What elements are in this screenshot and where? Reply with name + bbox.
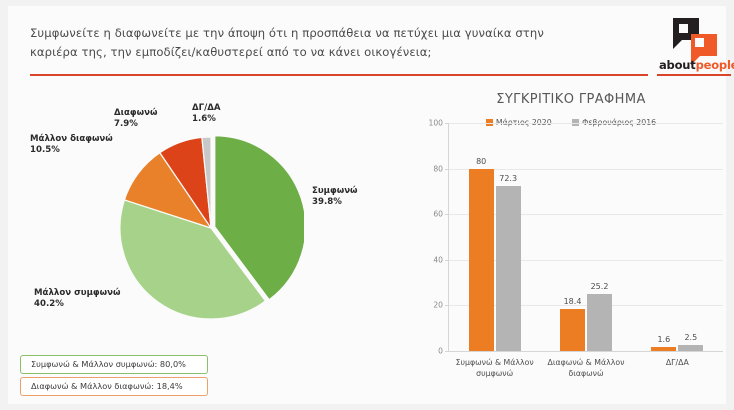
speech-bubble-orange-hole (695, 38, 704, 47)
pie-chart: Συμφωνώ 39.8% Μάλλον συμφωνώ 40.2% Μάλλο… (22, 92, 412, 347)
pie-label-diafono-value: 7.9% (114, 119, 138, 129)
bar-value-label: 18.4 (564, 297, 582, 306)
bar: 2.5 (678, 345, 703, 351)
bar: 18.4 (560, 309, 585, 351)
pie-circle (118, 135, 304, 321)
bar: 72.3 (496, 186, 521, 351)
y-tick-mark (445, 123, 449, 124)
bar-group: 18.425.2 (560, 123, 612, 351)
x-axis-label-line: Συμφωνώ & Μάλλον (456, 358, 534, 367)
pie-label-mallon-symfono: Μάλλον συμφωνώ 40.2% (34, 288, 130, 310)
bar-value-label: 1.6 (657, 335, 670, 344)
bar: 80 (469, 169, 494, 351)
y-tick-label: 80 (433, 164, 443, 173)
y-gridline (449, 351, 723, 352)
bar-group: 1.62.5 (651, 123, 703, 351)
pie-label-symfono-name: Συμφωνώ (312, 186, 358, 196)
page-title: Συμφωνείτε η διαφωνείτε με την άποψη ότι… (30, 24, 620, 62)
summary-disagree-box: Διαφωνώ & Μάλλον διαφωνώ: 18,4% (20, 377, 208, 396)
bar: 25.2 (587, 294, 612, 351)
bar-chart-plot-area: 0204060801008072.3Συμφωνώ & Μάλλονσυμφων… (448, 123, 723, 351)
pie-label-dgda-name: ΔΓ/ΔΑ (192, 103, 221, 113)
y-tick-label: 20 (433, 301, 443, 310)
logo-word-about: about (659, 58, 696, 72)
bar-chart-title: ΣΥΓΚΡΙΤΙΚΟ ΓΡΑΦΗΜΑ (412, 92, 730, 107)
pie-slices (118, 135, 304, 321)
pie-label-mallon-symfono-value: 40.2% (34, 299, 64, 309)
header-divider (30, 74, 648, 76)
x-axis-label-line: συμφωνώ (476, 369, 513, 378)
pie-label-mallon-diafono-value: 10.5% (30, 145, 60, 155)
content-panel: Συμφωνείτε η διαφωνείτε με την άποψη ότι… (8, 6, 726, 404)
logo-speech-bubbles-icon (659, 16, 731, 58)
y-tick-label: 0 (438, 347, 443, 356)
pie-label-dgda-value: 1.6% (192, 114, 216, 124)
slide-canvas: Συμφωνείτε η διαφωνείτε με την άποψη ότι… (0, 0, 734, 410)
pie-label-mallon-diafono-name: Μάλλον διαφωνώ (30, 134, 113, 144)
pie-label-mallon-symfono-name: Μάλλον συμφωνώ (34, 288, 120, 298)
bar-value-label: 80 (476, 157, 486, 166)
summary-agree-box: Συμφωνώ & Μάλλον συμφωνώ: 80,0% (20, 355, 208, 374)
bar-group: 8072.3 (469, 123, 521, 351)
aboutpeople-logo: aboutpeople (659, 16, 731, 78)
bar-value-label: 72.3 (499, 174, 517, 183)
y-tick-mark (445, 305, 449, 306)
y-tick-label: 60 (433, 210, 443, 219)
logo-wordmark: aboutpeople (659, 58, 731, 72)
summary-legend: Συμφωνώ & Μάλλον συμφωνώ: 80,0% Διαφωνώ … (20, 355, 208, 399)
question-line-2: καριέρα της, την εμποδίζει/καθυστερεί απ… (30, 43, 620, 62)
y-tick-label: 100 (429, 119, 444, 128)
bar-value-label: 2.5 (684, 333, 697, 342)
x-axis-label-line: διαφωνώ (568, 369, 603, 378)
pie-label-symfono: Συμφωνώ 39.8% (312, 186, 358, 208)
y-tick-mark (445, 169, 449, 170)
y-tick-label: 40 (433, 255, 443, 264)
bar-value-label: 25.2 (591, 282, 609, 291)
pie-label-dgda: ΔΓ/ΔΑ 1.6% (192, 103, 248, 125)
x-axis-label-line: ΔΓ/ΔΑ (666, 358, 689, 367)
y-tick-mark (445, 351, 449, 352)
logo-word-people: people (696, 58, 734, 72)
x-axis-label-line: Διαφωνώ & Μάλλον (548, 358, 625, 367)
logo-underline (657, 74, 731, 76)
y-tick-mark (445, 260, 449, 261)
pie-label-diafono: Διαφωνώ 7.9% (114, 108, 186, 130)
y-tick-mark (445, 214, 449, 215)
pie-label-symfono-value: 39.8% (312, 197, 342, 207)
bar-chart: ΣΥΓΚΡΙΤΙΚΟ ΓΡΑΦΗΜΑ Μάρτιος 2020 Φεβρουάρ… (412, 92, 730, 392)
pie-label-diafono-name: Διαφωνώ (114, 108, 157, 118)
question-line-1: Συμφωνείτε η διαφωνείτε με την άποψη ότι… (30, 26, 544, 40)
speech-bubble-black-hole (679, 24, 688, 33)
pie-label-mallon-diafono: Μάλλον διαφωνώ 10.5% (30, 134, 114, 156)
bar: 1.6 (651, 347, 676, 351)
x-axis-category-label: ΔΓ/ΔΑ (621, 357, 733, 368)
